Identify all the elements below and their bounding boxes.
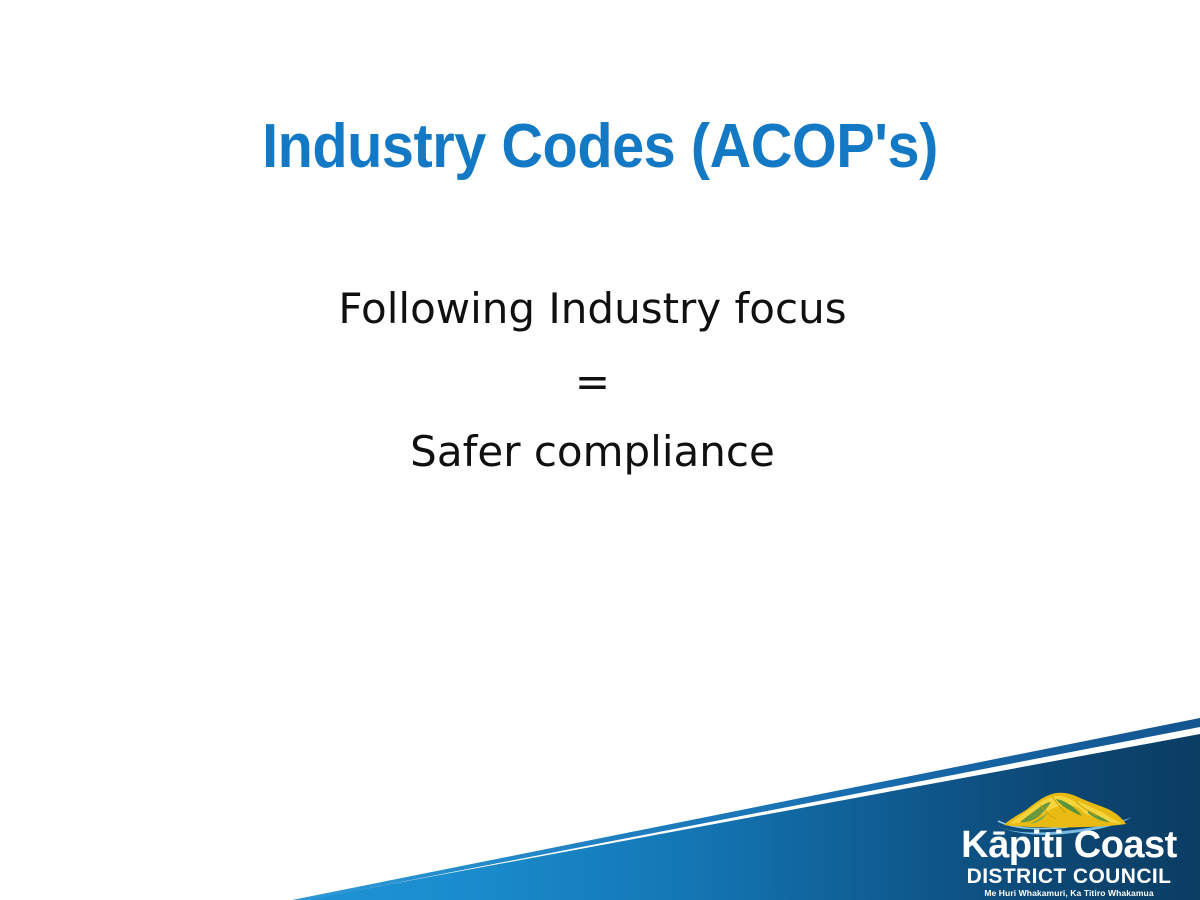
page-title: Industry Codes (ACOP's) xyxy=(42,114,1158,179)
kapiti-coast-district-council-logo: Kāpiti Coast DISTRICT COUNCIL Me Huri Wh… xyxy=(946,788,1192,892)
slide-canvas: Industry Codes (ACOP's) Following Indust… xyxy=(0,0,1200,900)
body-line-1: Following Industry focus xyxy=(0,288,1185,330)
slide-body-text: Following Industry focus = Safer complia… xyxy=(0,288,1185,473)
body-line-3: Safer compliance xyxy=(0,431,1185,473)
logo-subwordmark: DISTRICT COUNCIL xyxy=(946,866,1192,887)
logo-tagline: Me Huri Whakamuri, Ka Titiro Whakamua xyxy=(946,889,1192,898)
logo-wordmark: Kāpiti Coast xyxy=(946,826,1192,864)
body-line-equals: = xyxy=(0,361,1185,403)
